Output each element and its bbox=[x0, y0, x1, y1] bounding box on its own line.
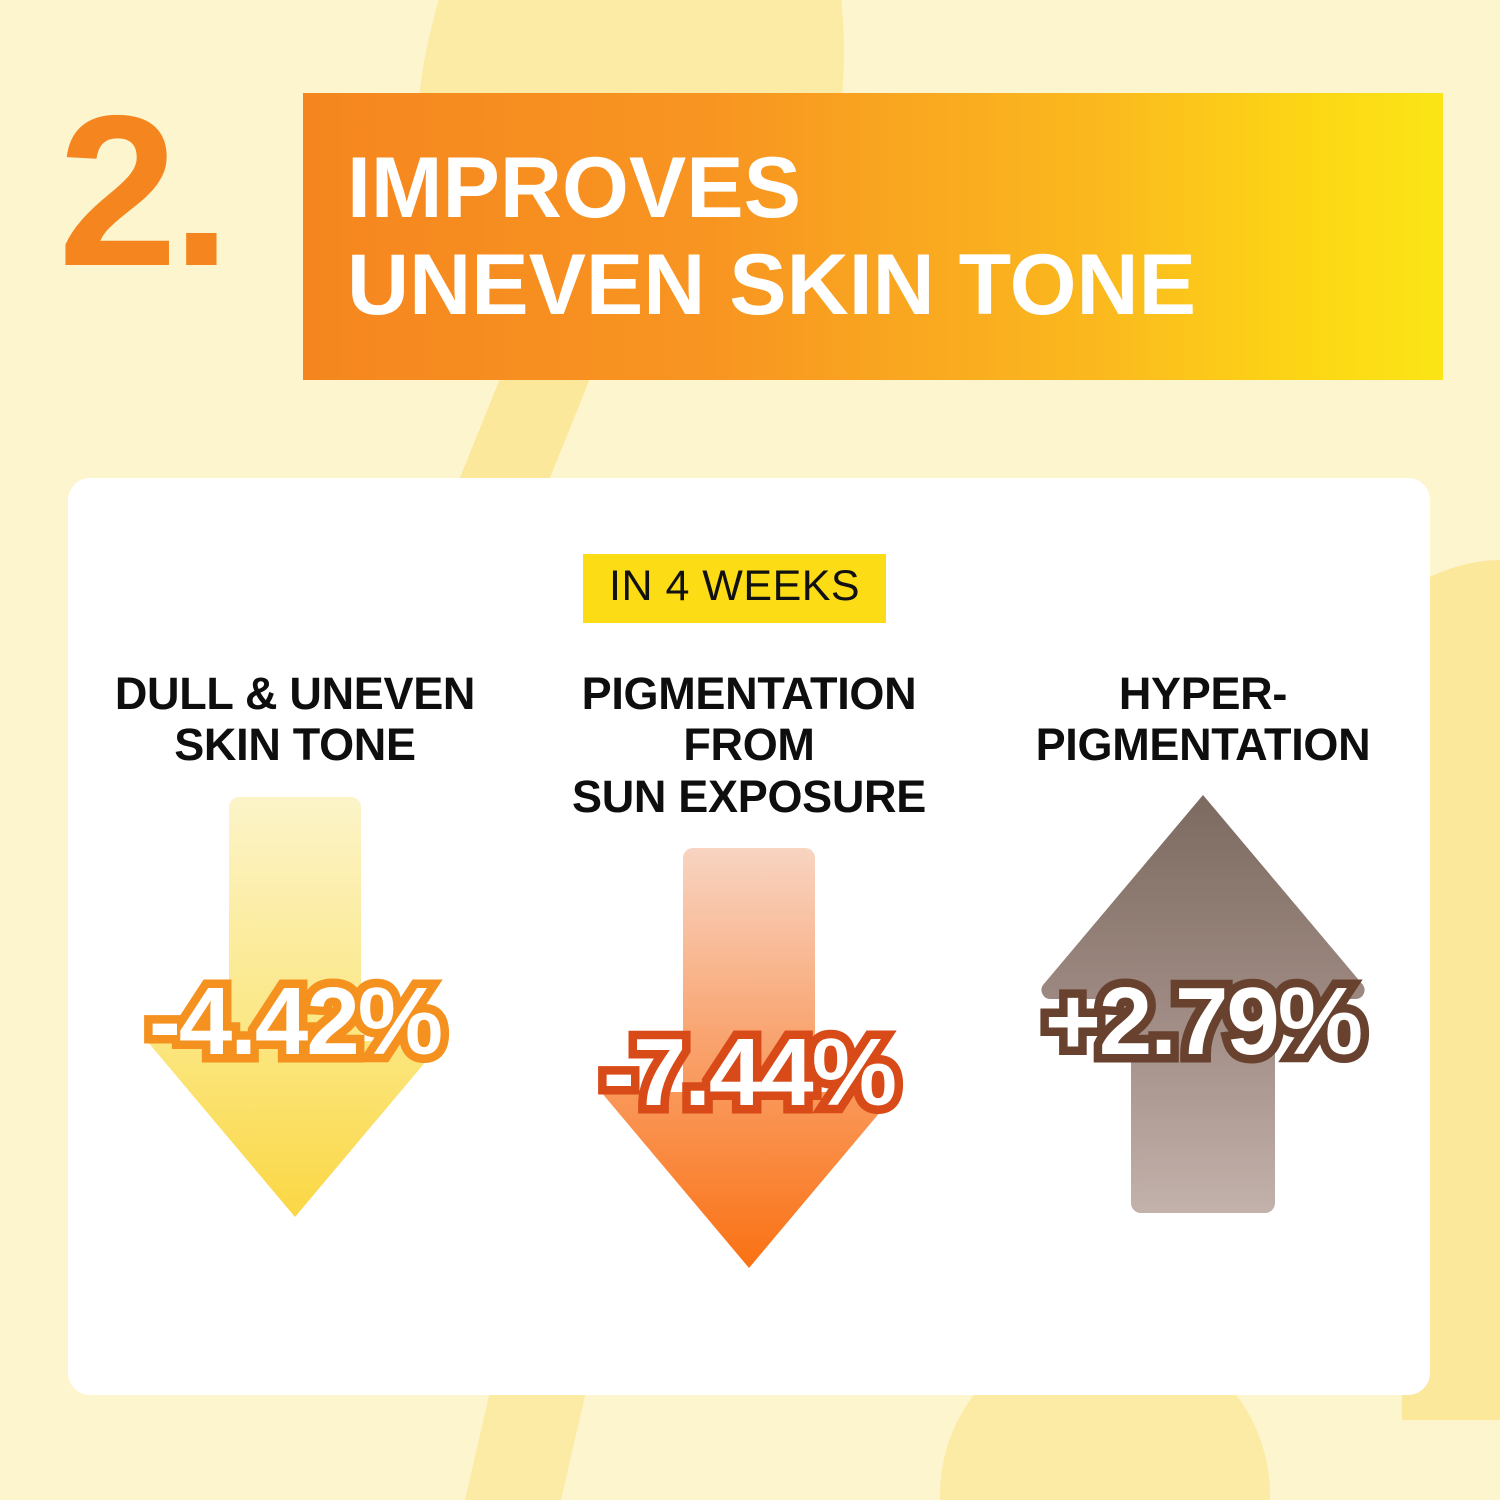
title-line-1: IMPROVES bbox=[347, 140, 1443, 236]
metric-value: -4.42% bbox=[149, 967, 441, 1077]
infographic-canvas: 2. IMPROVES UNEVEN SKIN TONE IN 4 WEEKS … bbox=[0, 0, 1500, 1500]
metrics-row: DULL & UNEVEN SKIN TONE -4.42% bbox=[68, 668, 1430, 1280]
metric-column-hyper-pigmentation: HYPER- PIGMENTATION +2.79% bbox=[976, 668, 1430, 1280]
metric-title: HYPER- PIGMENTATION bbox=[1028, 668, 1379, 771]
metric-arrow-group: -4.42% bbox=[115, 789, 475, 1229]
metric-column-pigmentation-from-sun-exposure: PIGMENTATION FROM SUN EXPOSURE -7.44% bbox=[522, 668, 976, 1280]
title-line-2: UNEVEN SKIN TONE bbox=[347, 237, 1443, 333]
step-number: 2. bbox=[58, 83, 225, 298]
metric-column-dull-uneven-skin-tone: DULL & UNEVEN SKIN TONE -4.42% bbox=[68, 668, 522, 1280]
metric-title: DULL & UNEVEN SKIN TONE bbox=[107, 668, 483, 771]
header: 2. IMPROVES UNEVEN SKIN TONE bbox=[0, 0, 1500, 470]
metric-value: +2.79% bbox=[1045, 967, 1361, 1077]
metric-title: PIGMENTATION FROM SUN EXPOSURE bbox=[564, 668, 934, 822]
metric-arrow-group: +2.79% bbox=[1023, 789, 1383, 1229]
results-card: IN 4 WEEKS DULL & UNEVEN SKIN TONE bbox=[68, 478, 1430, 1395]
metric-arrow-group: -7.44% bbox=[569, 840, 929, 1280]
title-banner: IMPROVES UNEVEN SKIN TONE bbox=[303, 93, 1443, 380]
timeframe-badge: IN 4 WEEKS bbox=[583, 554, 886, 623]
metric-value: -7.44% bbox=[603, 1018, 895, 1128]
